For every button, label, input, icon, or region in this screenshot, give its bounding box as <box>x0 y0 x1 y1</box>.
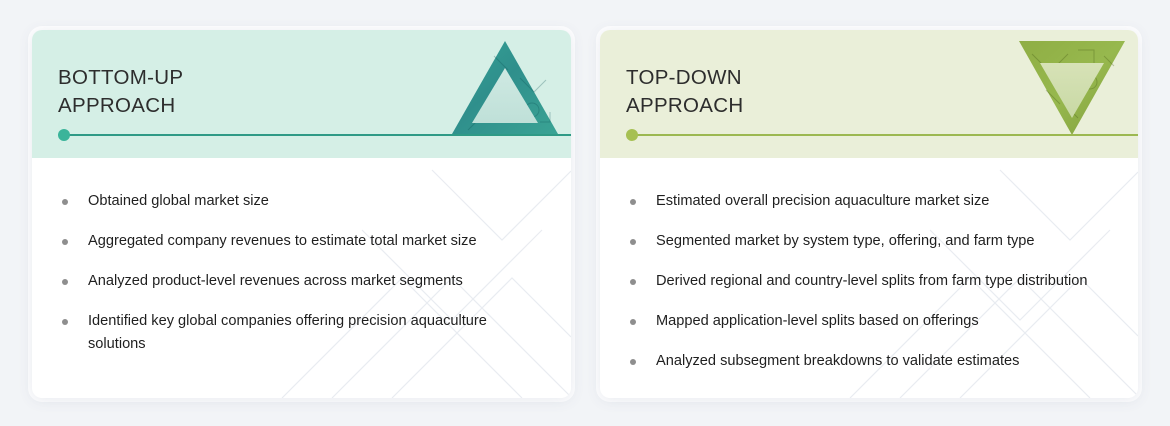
top-down-approach-card: TOP-DOWN APPROACH <box>600 30 1138 398</box>
list-item-label: Derived regional and country-level split… <box>656 273 1088 289</box>
bullet-list-bottom-up: Obtained global market size Aggregated c… <box>58 190 541 356</box>
list-item: Analyzed subsegment breakdowns to valida… <box>626 350 1108 373</box>
card-header-top-down: TOP-DOWN APPROACH <box>600 30 1138 158</box>
list-item-label: Estimated overall precision aquaculture … <box>656 193 989 209</box>
list-item: Obtained global market size <box>58 190 541 213</box>
bullet-dot-icon <box>62 199 68 205</box>
card-body-top-down: Estimated overall precision aquaculture … <box>600 158 1138 373</box>
card-header-bottom-up: BOTTOM-UP APPROACH <box>32 30 571 158</box>
bullet-dot-icon <box>630 239 636 245</box>
accent-line <box>64 134 571 136</box>
bullet-dot-icon <box>62 279 68 285</box>
card-title-bottom-up: BOTTOM-UP APPROACH <box>58 64 183 120</box>
bottom-up-approach-card: BOTTOM-UP APPROACH <box>32 30 571 398</box>
list-item-label: Analyzed subsegment breakdowns to valida… <box>656 353 1019 369</box>
bullet-dot-icon <box>630 359 636 365</box>
accent-dot <box>626 129 638 141</box>
accent-line <box>632 134 1138 136</box>
accent-line-bottom-up <box>58 129 571 141</box>
bullet-dot-icon <box>62 319 68 325</box>
list-item: Segmented market by system type, offerin… <box>626 230 1108 253</box>
list-item: Derived regional and country-level split… <box>626 270 1108 293</box>
list-item: Estimated overall precision aquaculture … <box>626 190 1108 213</box>
list-item: Mapped application-level splits based on… <box>626 310 1108 333</box>
list-item-label: Segmented market by system type, offerin… <box>656 233 1035 249</box>
card-body-bottom-up: Obtained global market size Aggregated c… <box>32 158 571 356</box>
slide-canvas: BOTTOM-UP APPROACH <box>0 0 1170 426</box>
triangle-up-icon <box>450 38 560 138</box>
bullet-dot-icon <box>630 279 636 285</box>
card-title-top-down: TOP-DOWN APPROACH <box>626 64 743 120</box>
bullet-list-top-down: Estimated overall precision aquaculture … <box>626 190 1108 373</box>
list-item-label: Mapped application-level splits based on… <box>656 313 979 329</box>
accent-dot <box>58 129 70 141</box>
bullet-dot-icon <box>630 199 636 205</box>
triangle-down-icon <box>1016 38 1128 138</box>
bullet-dot-icon <box>62 239 68 245</box>
list-item-label: Obtained global market size <box>88 193 269 209</box>
list-item-label: Analyzed product-level revenues across m… <box>88 273 463 289</box>
accent-line-top-down <box>626 129 1138 141</box>
list-item: Aggregated company revenues to estimate … <box>58 230 541 253</box>
bullet-dot-icon <box>630 319 636 325</box>
list-item-label: Aggregated company revenues to estimate … <box>88 233 477 249</box>
list-item: Identified key global companies offering… <box>58 310 541 356</box>
list-item: Analyzed product-level revenues across m… <box>58 270 541 293</box>
list-item-label: Identified key global companies offering… <box>88 313 487 352</box>
